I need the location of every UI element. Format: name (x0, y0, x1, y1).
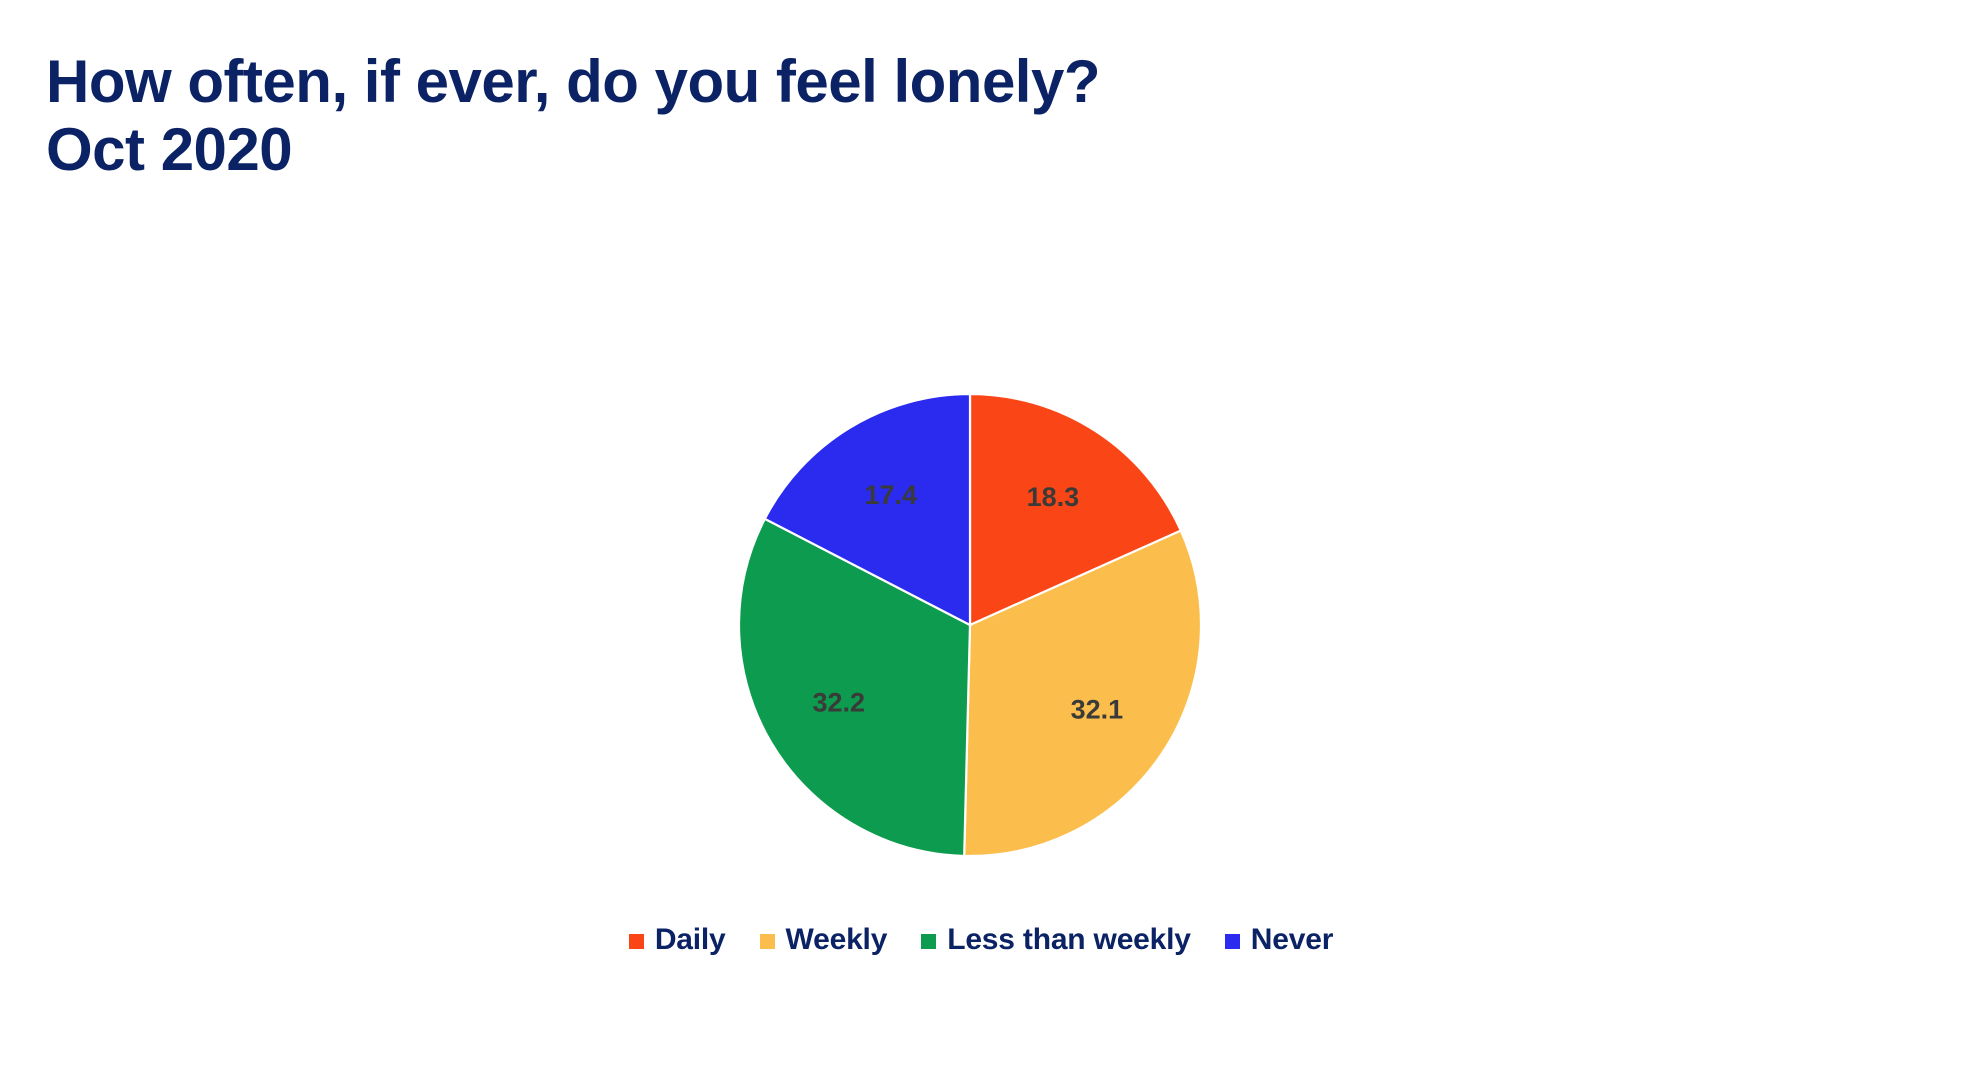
legend-item-less-than-weekly[interactable]: Less than weekly (921, 925, 1191, 955)
legend-item-label: Daily (655, 925, 726, 955)
chart-legend: DailyWeeklyLess than weeklyNever (0, 925, 1962, 955)
legend-daily-square-marker-icon (629, 934, 644, 949)
legend-item-daily[interactable]: Daily (629, 925, 726, 955)
page-title-line-1: How often, if ever, do you feel lonely? (46, 48, 1746, 116)
pie-slice-value-label: 18.3 (1027, 482, 1080, 512)
legend-item-label: Less than weekly (947, 925, 1191, 955)
legend-item-never[interactable]: Never (1225, 925, 1333, 955)
legend-item-label: Weekly (786, 925, 888, 955)
legend-less-than-weekly-square-marker-icon (921, 934, 936, 949)
pie-slice-value-label: 32.2 (812, 688, 865, 718)
legend-never-square-marker-icon (1225, 934, 1240, 949)
pie-slice-group (739, 394, 1201, 856)
pie-slice-value-label: 17.4 (864, 480, 917, 510)
legend-item-weekly[interactable]: Weekly (760, 925, 888, 955)
page-title: How often, if ever, do you feel lonely? … (46, 48, 1746, 185)
pie-slice-value-label: 32.1 (1071, 695, 1124, 725)
pie-chart-svg: 18.332.132.217.4 (738, 393, 1202, 857)
legend-item-label: Never (1251, 925, 1333, 955)
pie-chart: 18.332.132.217.4 (738, 393, 1202, 857)
page-title-line-2: Oct 2020 (46, 116, 1746, 184)
legend-weekly-square-marker-icon (760, 934, 775, 949)
